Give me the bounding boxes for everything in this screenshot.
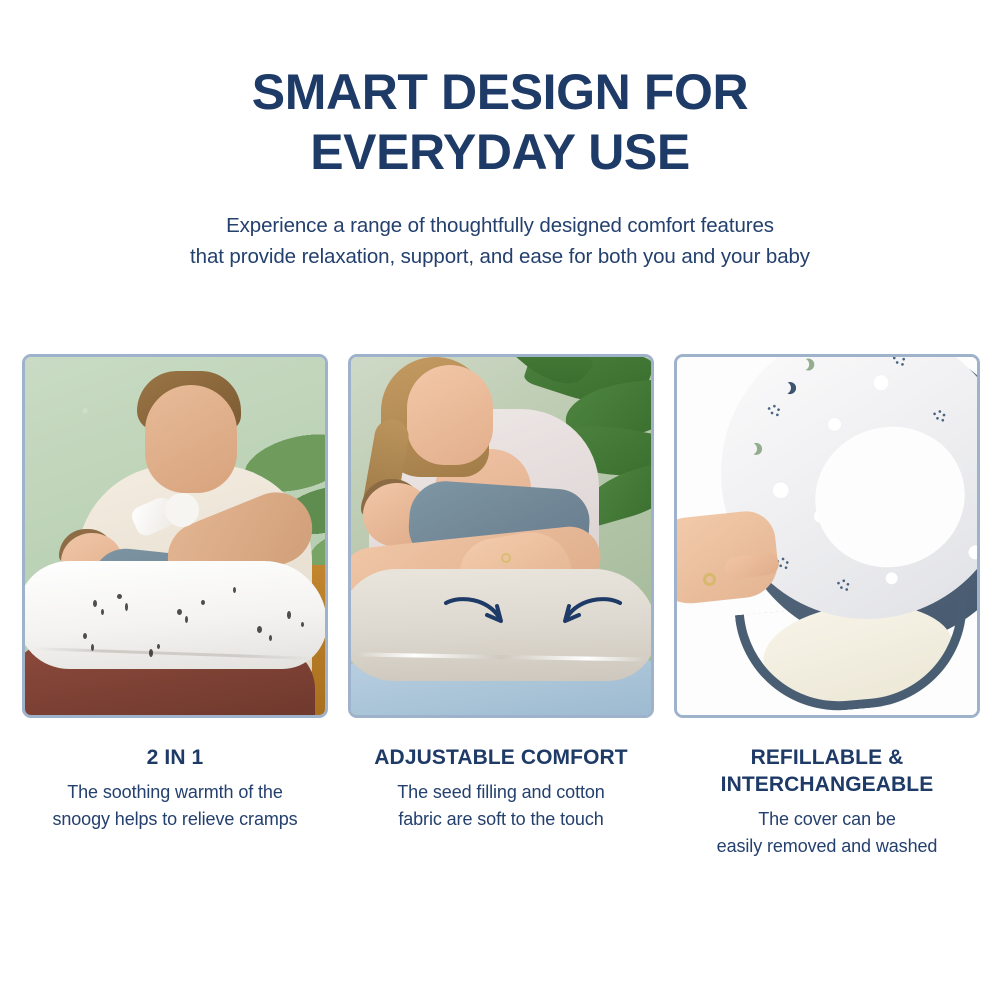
feature-card-list: 2 IN 1 The soothing warmth of the snoogy… — [22, 354, 980, 860]
card-image-frame — [22, 354, 328, 718]
card-image-frame — [348, 354, 654, 718]
page-title: SMART DESIGN FOR EVERYDAY USE — [190, 62, 810, 182]
card-title-line-1: REFILLABLE & — [751, 746, 904, 769]
card-title-line-2: INTERCHANGEABLE — [721, 773, 934, 796]
photo-removable-cover — [677, 357, 977, 715]
card-caption: ADJUSTABLE COMFORT The seed filling and … — [348, 744, 654, 833]
card-description-line-1: The soothing warmth of the — [67, 782, 283, 802]
feature-card-adjustable-comfort[interactable]: ADJUSTABLE COMFORT The seed filling and … — [348, 354, 654, 860]
photo-mother-nursing-baby — [351, 357, 651, 715]
card-description: The seed filling and cotton fabric are s… — [348, 779, 654, 833]
card-caption: 2 IN 1 The soothing warmth of the snoogy… — [22, 744, 328, 833]
card-description-line-2: fabric are soft to the touch — [398, 809, 603, 829]
page-title-line-1: SMART DESIGN FOR — [252, 64, 748, 120]
card-description-line-1: The cover can be — [758, 809, 895, 829]
page-subtitle: Experience a range of thoughtfully desig… — [140, 210, 860, 272]
card-description: The cover can be easily removed and wash… — [674, 806, 980, 860]
card-description: The soothing warmth of the snoogy helps … — [22, 779, 328, 833]
page-subtitle-line-1: Experience a range of thoughtfully desig… — [226, 214, 774, 237]
card-image-frame — [674, 354, 980, 718]
card-caption: REFILLABLE & INTERCHANGEABLE The cover c… — [674, 744, 980, 860]
page-header: SMART DESIGN FOR EVERYDAY USE Experience… — [0, 0, 1000, 272]
card-title: 2 IN 1 — [22, 744, 328, 771]
card-title: ADJUSTABLE COMFORT — [348, 744, 654, 771]
card-description-line-2: snoogy helps to relieve cramps — [52, 809, 297, 829]
feature-card-refillable[interactable]: REFILLABLE & INTERCHANGEABLE The cover c… — [674, 354, 980, 860]
feature-page: SMART DESIGN FOR EVERYDAY USE Experience… — [0, 0, 1000, 1000]
card-description-line-1: The seed filling and cotton — [397, 782, 604, 802]
feature-card-2-in-1[interactable]: 2 IN 1 The soothing warmth of the snoogy… — [22, 354, 328, 860]
card-title: REFILLABLE & INTERCHANGEABLE — [674, 744, 980, 798]
page-title-line-2: EVERYDAY USE — [310, 124, 690, 180]
photo-man-feeding-baby — [25, 357, 325, 715]
page-subtitle-line-2: that provide relaxation, support, and ea… — [190, 245, 810, 268]
card-description-line-2: easily removed and washed — [717, 836, 938, 856]
